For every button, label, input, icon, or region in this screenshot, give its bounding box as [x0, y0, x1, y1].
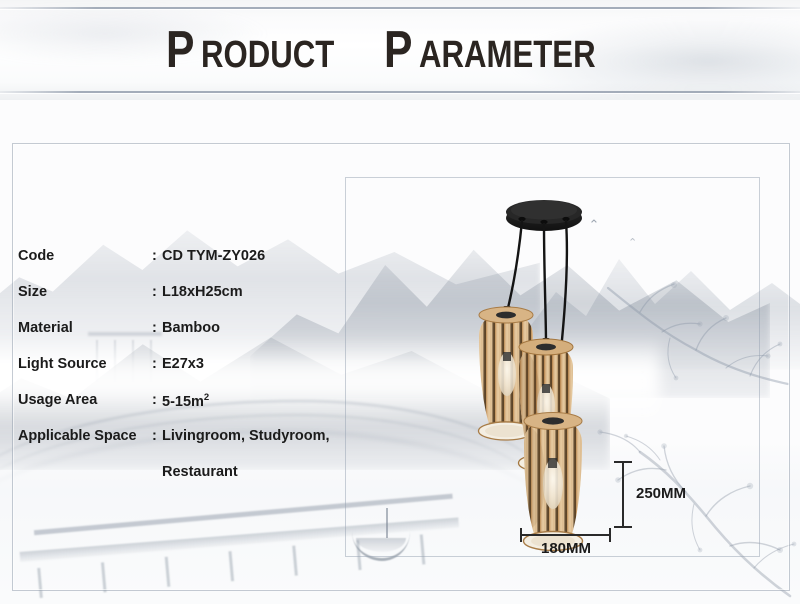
- page-title-word-1: PRODUCT: [166, 24, 364, 76]
- height-dimension-cap-bottom: [614, 526, 632, 528]
- parameter-label-light-source: Light Source: [18, 356, 107, 372]
- parameter-row-applicable-space-continued: Restaurant: [18, 464, 348, 500]
- parameter-row-material: Material : Bamboo: [18, 320, 348, 356]
- boat-hull: [356, 538, 406, 552]
- page-title-word-2: PARAMETER: [384, 24, 635, 76]
- parameter-row-usage-area: Usage Area : 5-15m2: [18, 392, 348, 428]
- parameter-row-light-source: Light Source : E27x3: [18, 356, 348, 392]
- parameter-colon-light-source: :: [152, 356, 157, 372]
- boat-mast: [386, 508, 388, 538]
- header-band: PRODUCT PARAMETER: [0, 0, 800, 100]
- height-dimension-label: 250MM: [636, 485, 686, 502]
- page-title-word-2-initial: P: [384, 24, 413, 76]
- page-title-word-2-rest: ARAMETER: [419, 36, 596, 74]
- parameter-value-code: CD TYM-ZY026: [162, 248, 265, 264]
- parameter-list: Code : CD TYM-ZY026 Size : L18xH25cm Mat…: [18, 248, 348, 500]
- parameter-colon-code: :: [152, 248, 157, 264]
- width-dimension-line: [521, 534, 611, 536]
- parameter-value-material: Bamboo: [162, 320, 220, 336]
- boat-outline: [352, 532, 410, 561]
- parameter-row-size: Size : L18xH25cm: [18, 284, 348, 320]
- parameter-label-code: Code: [18, 248, 54, 264]
- parameter-row-applicable-space: Applicable Space : Livingroom, Studyroom…: [18, 428, 348, 464]
- width-dimension-label: 180MM: [521, 540, 611, 557]
- plum-branch-upper: [600, 280, 800, 450]
- usage-area-superscript: 2: [204, 392, 209, 403]
- parameter-label-applicable-space: Applicable Space: [18, 428, 136, 444]
- product-parameter-page: PRODUCT PARAMETER ⌃ ⌃ ⌃: [0, 0, 800, 604]
- bridge-deck: [20, 517, 459, 561]
- page-title-word-1-rest: RODUCT: [201, 36, 334, 74]
- parameter-colon-applicable-space: :: [152, 428, 157, 444]
- parameter-value-usage-area: 5-15m2: [162, 392, 209, 410]
- parameter-value-applicable-space: Livingroom, Studyroom,: [162, 428, 330, 444]
- parameter-label-material: Material: [18, 320, 73, 336]
- parameter-value-applicable-space-line2: Restaurant: [162, 464, 238, 480]
- header-bottom-rule-highlight: [0, 93, 800, 94]
- mountain-right: [520, 220, 800, 370]
- parameter-value-size: L18xH25cm: [162, 284, 243, 300]
- birds-flock-icon: ⌃ ⌃: [560, 218, 650, 248]
- page-title: PRODUCT PARAMETER: [0, 19, 800, 81]
- parameter-label-size: Size: [18, 284, 47, 300]
- page-title-word-1-initial: P: [166, 24, 195, 76]
- bird-single-icon: ⌃: [628, 236, 688, 256]
- header-top-rule-highlight: [0, 9, 800, 10]
- bridge-railing: [34, 494, 459, 600]
- parameter-colon-usage-area: :: [152, 392, 157, 408]
- usage-area-number: 5-15m: [162, 394, 204, 410]
- parameter-row-code: Code : CD TYM-ZY026: [18, 248, 348, 284]
- parameter-colon-size: :: [152, 284, 157, 300]
- parameter-colon-material: :: [152, 320, 157, 336]
- parameter-label-usage-area: Usage Area: [18, 392, 97, 408]
- parameter-value-light-source: E27x3: [162, 356, 204, 372]
- height-dimension-line: [622, 462, 624, 528]
